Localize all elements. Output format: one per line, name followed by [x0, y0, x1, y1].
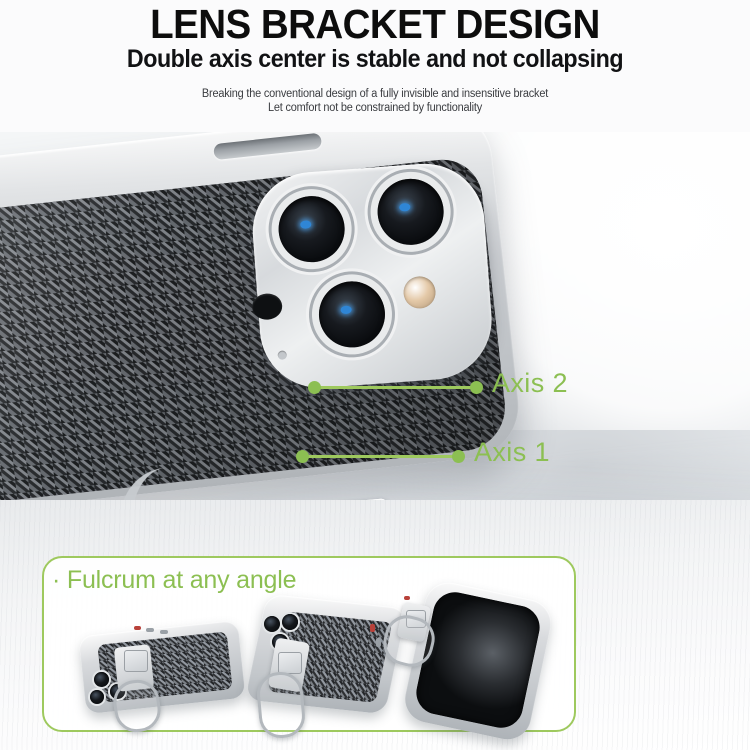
tagline-line-1: Breaking the conventional design of a fu…: [19, 88, 732, 100]
leader-dot-icon-start: [308, 381, 321, 394]
leader-dot-icon-end: [470, 381, 483, 394]
tagline-line-2: Let comfort not be constrained by functi…: [19, 102, 732, 114]
leader-dot-icon-start: [296, 450, 309, 463]
mini-button-5: [376, 638, 381, 647]
mini-phone-portrait: [248, 600, 408, 735]
mini-kickstand-loop-2: [255, 670, 307, 740]
camera-island: [249, 160, 496, 392]
mini-lens-1c: [90, 690, 104, 704]
camera-lens-3: [317, 279, 388, 350]
mini-lens-1a: [94, 672, 109, 687]
flash-icon: [402, 275, 436, 309]
mini-badge-2: [278, 652, 302, 674]
mini-phone-upright: [392, 590, 562, 735]
mini-button-2: [146, 628, 154, 632]
microphone-hole-icon: [251, 293, 283, 321]
fulcrum-panel-title: · Fulcrum at any angle: [52, 566, 296, 595]
header-section: LENS BRACKET DESIGN Double axis center i…: [0, 0, 750, 132]
mini-button-1: [134, 626, 141, 630]
page-subtitle: Double axis center is stable and not col…: [26, 45, 724, 73]
mini-lens-2a: [264, 616, 280, 632]
leader-line: [312, 386, 476, 389]
mini-phone-landscape: [82, 628, 257, 728]
page-title: LENS BRACKET DESIGN: [23, 2, 728, 46]
axis-2-label: Axis 2: [492, 368, 568, 398]
leader-dot-icon-end: [452, 450, 465, 463]
mini-button-4: [370, 624, 375, 632]
camera-lens-1: [276, 194, 347, 265]
mini-badge-1: [124, 650, 148, 672]
axis-1-label: Axis 1: [474, 437, 550, 467]
product-marketing-image: LENS BRACKET DESIGN Double axis center i…: [0, 0, 750, 750]
mini-button-6: [404, 596, 410, 600]
camera-lens-2: [375, 177, 446, 248]
leader-line: [300, 455, 458, 458]
mini-button-3: [160, 630, 168, 634]
lidar-sensor-icon: [277, 350, 287, 360]
mini-lens-2b: [282, 614, 298, 630]
hero-product-scene: [0, 130, 750, 560]
